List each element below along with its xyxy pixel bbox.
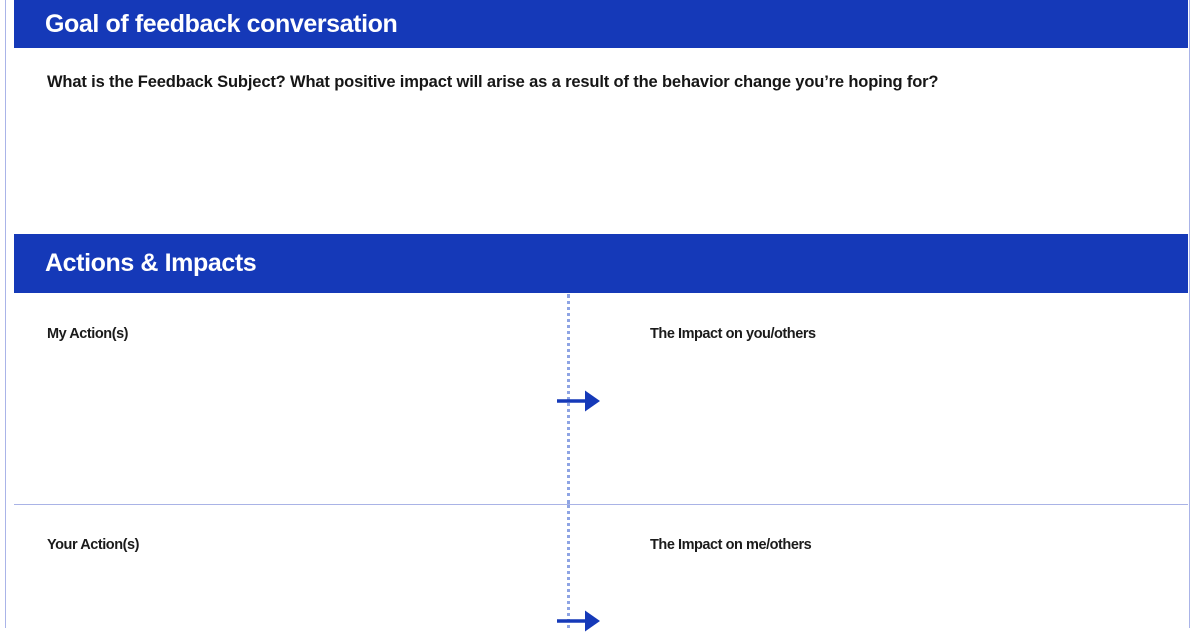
feedback-worksheet: Goal of feedback conversation What is th… [5,0,1190,628]
actions-impacts-grid: My Action(s) The Impact on you/others Yo… [14,294,1188,628]
impact-on-you-others-label: The Impact on you/others [650,326,816,342]
impact-on-me-others-label: The Impact on me/others [650,537,811,553]
table-row: My Action(s) The Impact on you/others [14,294,1188,505]
table-row: Your Action(s) The Impact on me/others [14,505,1188,628]
goal-body-panel[interactable]: What is the Feedback Subject? What posit… [14,49,1188,232]
section-header-goal: Goal of feedback conversation [14,0,1188,48]
your-actions-label: Your Action(s) [47,537,139,553]
section-header-actions: Actions & Impacts [14,234,1188,293]
my-actions-label: My Action(s) [47,326,128,342]
goal-prompt-text: What is the Feedback Subject? What posit… [47,72,1168,93]
arrow-right-icon [555,604,603,638]
section-title-actions: Actions & Impacts [14,251,256,276]
arrow-right-icon [555,384,603,418]
section-title-goal: Goal of feedback conversation [14,12,397,37]
